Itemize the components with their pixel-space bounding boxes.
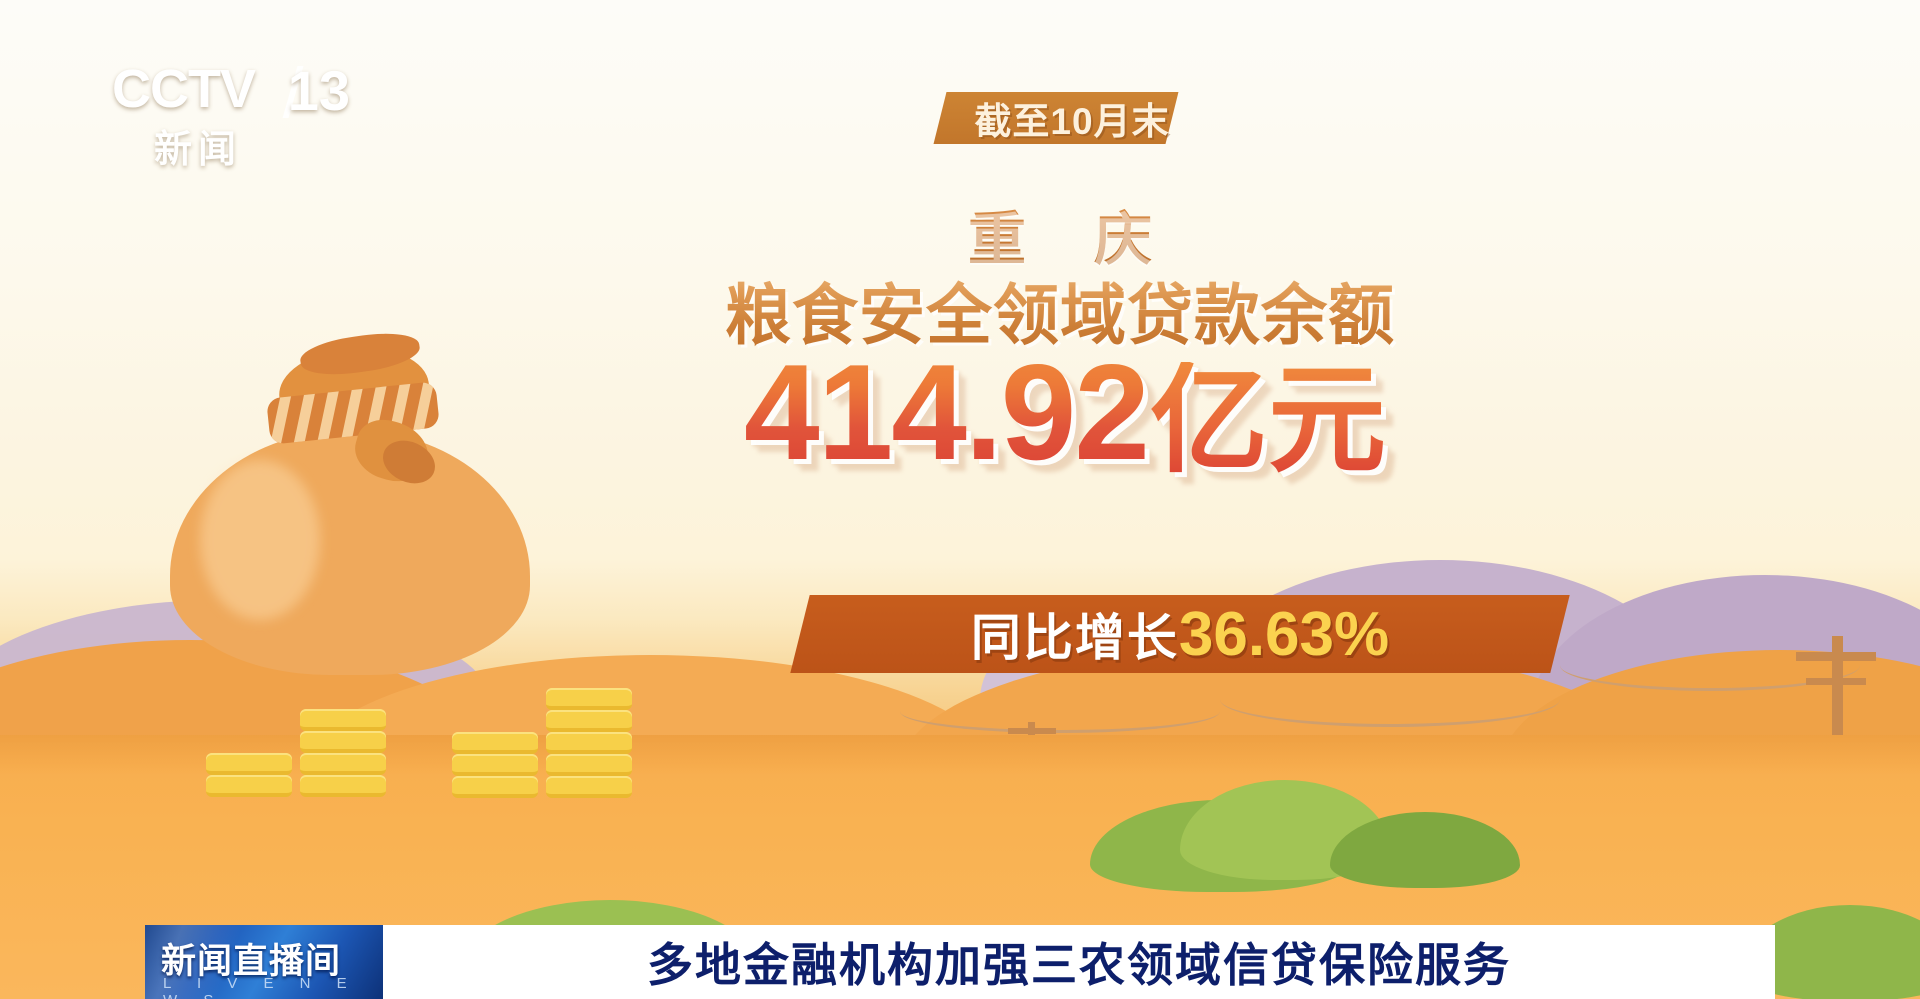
figure-value: 414.92 — [744, 344, 1148, 480]
utility-pole-crossbar — [1008, 728, 1056, 734]
power-wire — [900, 690, 1220, 733]
coin-stack — [206, 735, 292, 795]
news-headline-text: 多地金融机构加强三农领域信贷保险服务 — [647, 929, 1511, 995]
logo-subtitle: 新闻 — [154, 118, 242, 173]
coin-stack — [546, 668, 632, 796]
utility-pole-crossbar — [1806, 678, 1866, 685]
period-banner-label: 截至10月末 — [952, 94, 1192, 142]
logo-channel-number: 13 — [288, 58, 350, 123]
money-bag-highlight — [200, 460, 320, 620]
lower-third: 新闻直播间 L I V E N E W S 多地金融机构加强三农领域信贷保险服务 — [145, 925, 1775, 999]
channel-logo: CCTV 13 新闻 — [112, 62, 352, 157]
utility-pole-crossbar — [1796, 652, 1876, 661]
money-bag-illustration — [150, 330, 550, 690]
growth-label: 同比增长 — [971, 598, 1179, 670]
coin-stack — [300, 695, 386, 795]
figure-row: 414.92 亿元 — [560, 340, 1570, 480]
power-wire — [1220, 672, 1560, 727]
coin-stack — [452, 720, 538, 796]
growth-banner: 同比增长 36.63% — [800, 595, 1560, 673]
growth-value: 36.63% — [1179, 599, 1389, 670]
program-name-en: L I V E N E W S — [163, 975, 383, 999]
figure-unit: 亿元 — [1150, 362, 1386, 480]
broadcast-screen: CCTV 13 新闻 截至10月末 重 庆 粮食安全领域贷款余额 414.92 … — [0, 0, 1920, 999]
news-headline-bar: 多地金融机构加强三农领域信贷保险服务 — [383, 925, 1775, 999]
program-brand-box: 新闻直播间 L I V E N E W S — [145, 925, 383, 999]
